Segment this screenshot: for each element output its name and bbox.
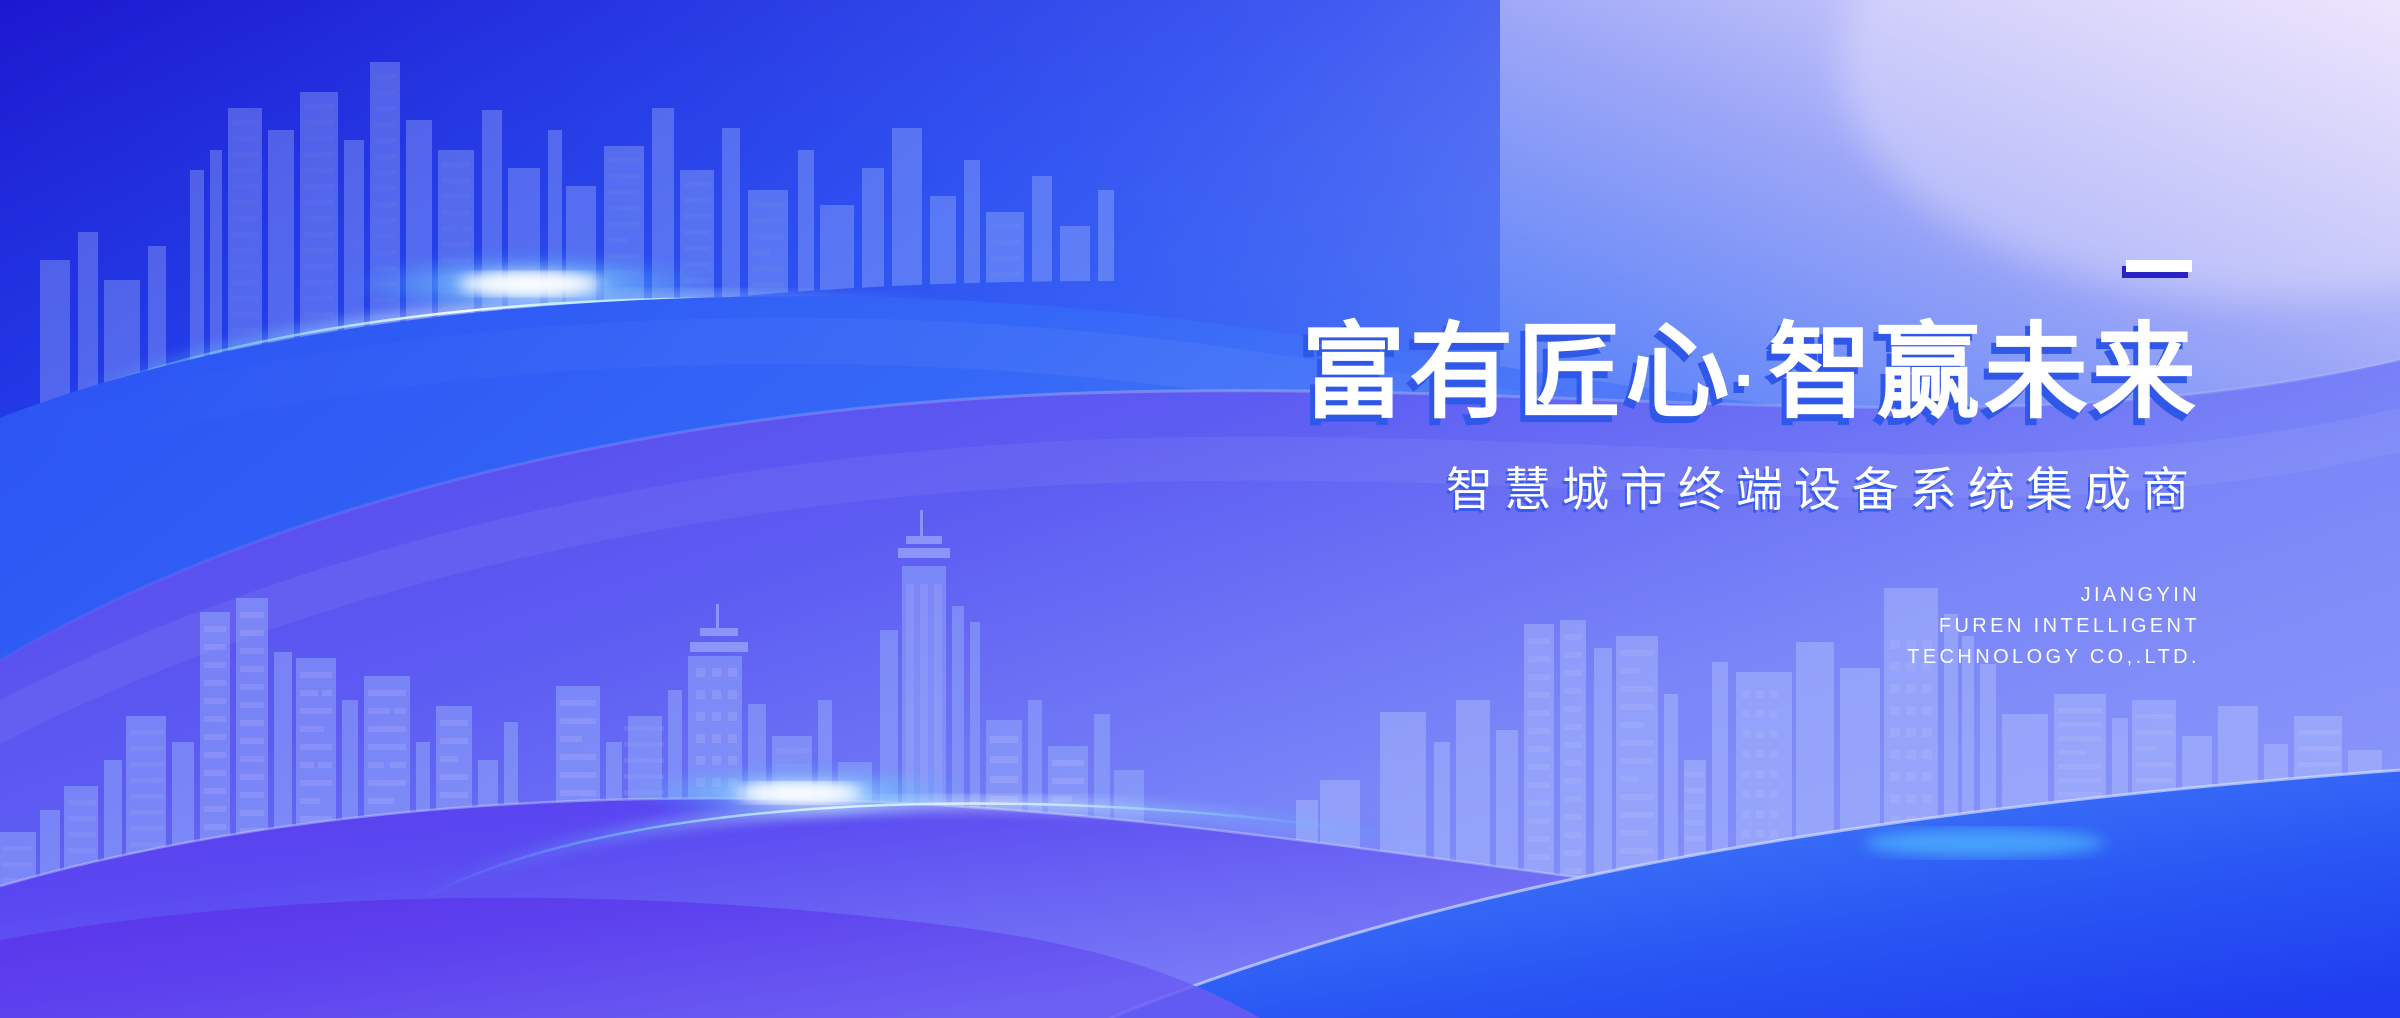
page-title: 富有匠心·智赢未来 — [900, 321, 2200, 425]
page-subtitle: 智慧城市终端设备系统集成商 — [900, 451, 2200, 520]
headline-group: 富有匠心·智赢未来 智慧城市终端设备系统集成商 JIANGYIN FUREN I… — [900, 260, 2200, 673]
company-line-3: TECHNOLOGY CO,.LTD. — [900, 642, 2200, 673]
poster-canvas: 富有匠心·智赢未来 智慧城市终端设备系统集成商 JIANGYIN FUREN I… — [0, 0, 2400, 1018]
headline-left: 富有匠心 — [1301, 315, 1733, 431]
glow-accent-right — [1865, 829, 2105, 857]
dash-mark — [900, 260, 2200, 321]
headline-separator: · — [1733, 339, 1768, 422]
company-line-2: FUREN INTELLIGENT — [900, 611, 2200, 642]
company-line-1: JIANGYIN — [900, 580, 2200, 611]
company-name: JIANGYIN FUREN INTELLIGENT TECHNOLOGY CO… — [900, 580, 2200, 673]
headline-right: 智赢未来 — [1768, 315, 2200, 431]
